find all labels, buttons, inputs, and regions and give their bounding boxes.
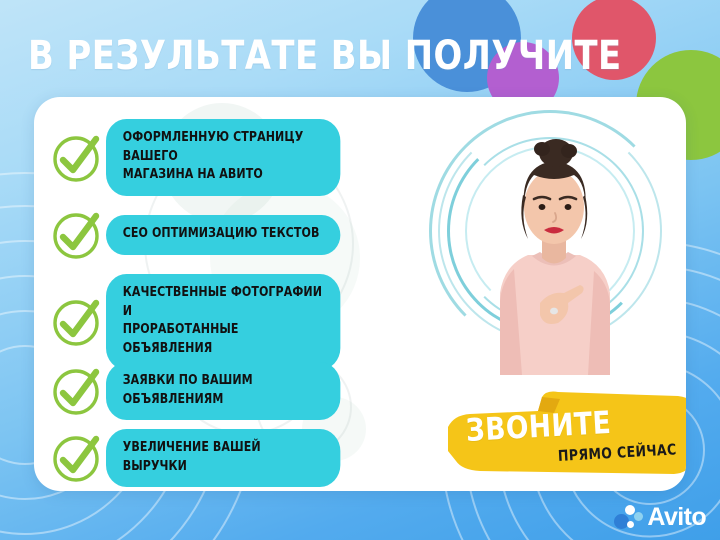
content-card: ОФОРМЛЕННУЮ СТРАНИЦУ ВАШЕГО МАГАЗИНА НА … [34,97,686,491]
list-item: ЗАЯВКИ ПО ВАШИМ ОБЪЯВЛЕНИЯМ [50,362,358,420]
benefit-pill: ОФОРМЛЕННУЮ СТРАНИЦУ ВАШЕГО МАГАЗИНА НА … [106,119,340,196]
benefit-pill: УВЕЛИЧЕНИЕ ВАШЕЙ ВЫРУЧКИ [106,429,340,487]
list-item: ОФОРМЛЕННУЮ СТРАНИЦУ ВАШЕГО МАГАЗИНА НА … [50,119,358,196]
list-item: УВЕЛИЧЕНИЕ ВАШЕЙ ВЫРУЧКИ [50,429,358,487]
avito-wordmark: Avito [647,503,706,532]
avito-dots-icon [614,505,644,531]
benefit-pill: СЕО ОПТИМИЗАЦИЮ ТЕКСТОВ [106,215,340,255]
green-check-icon [50,207,106,263]
call-now-banner[interactable]: ЗВОНИТЕ ПРЯМО СЕЙЧАС [442,389,686,477]
presenter-photo [426,107,674,375]
list-item: СЕО ОПТИМИЗАЦИЮ ТЕКСТОВ [50,207,358,263]
avito-logo: Avito [614,503,706,532]
benefit-pill: ЗАЯВКИ ПО ВАШИМ ОБЪЯВЛЕНИЯМ [106,362,340,420]
list-item: КАЧЕСТВЕННЫЕ ФОТОГРАФИИ И ПРОРАБОТАННЫЕ … [50,274,358,370]
green-check-icon [50,130,106,186]
green-check-icon [50,430,106,486]
benefit-pill: КАЧЕСТВЕННЫЕ ФОТОГРАФИИ И ПРОРАБОТАННЫЕ … [106,274,340,370]
green-check-icon [50,363,106,419]
woman-pointing-illustration [470,125,638,375]
page-title: В РЕЗУЛЬТАТЕ ВЫ ПОЛУЧИТЕ [28,36,622,76]
green-check-icon [50,294,106,350]
